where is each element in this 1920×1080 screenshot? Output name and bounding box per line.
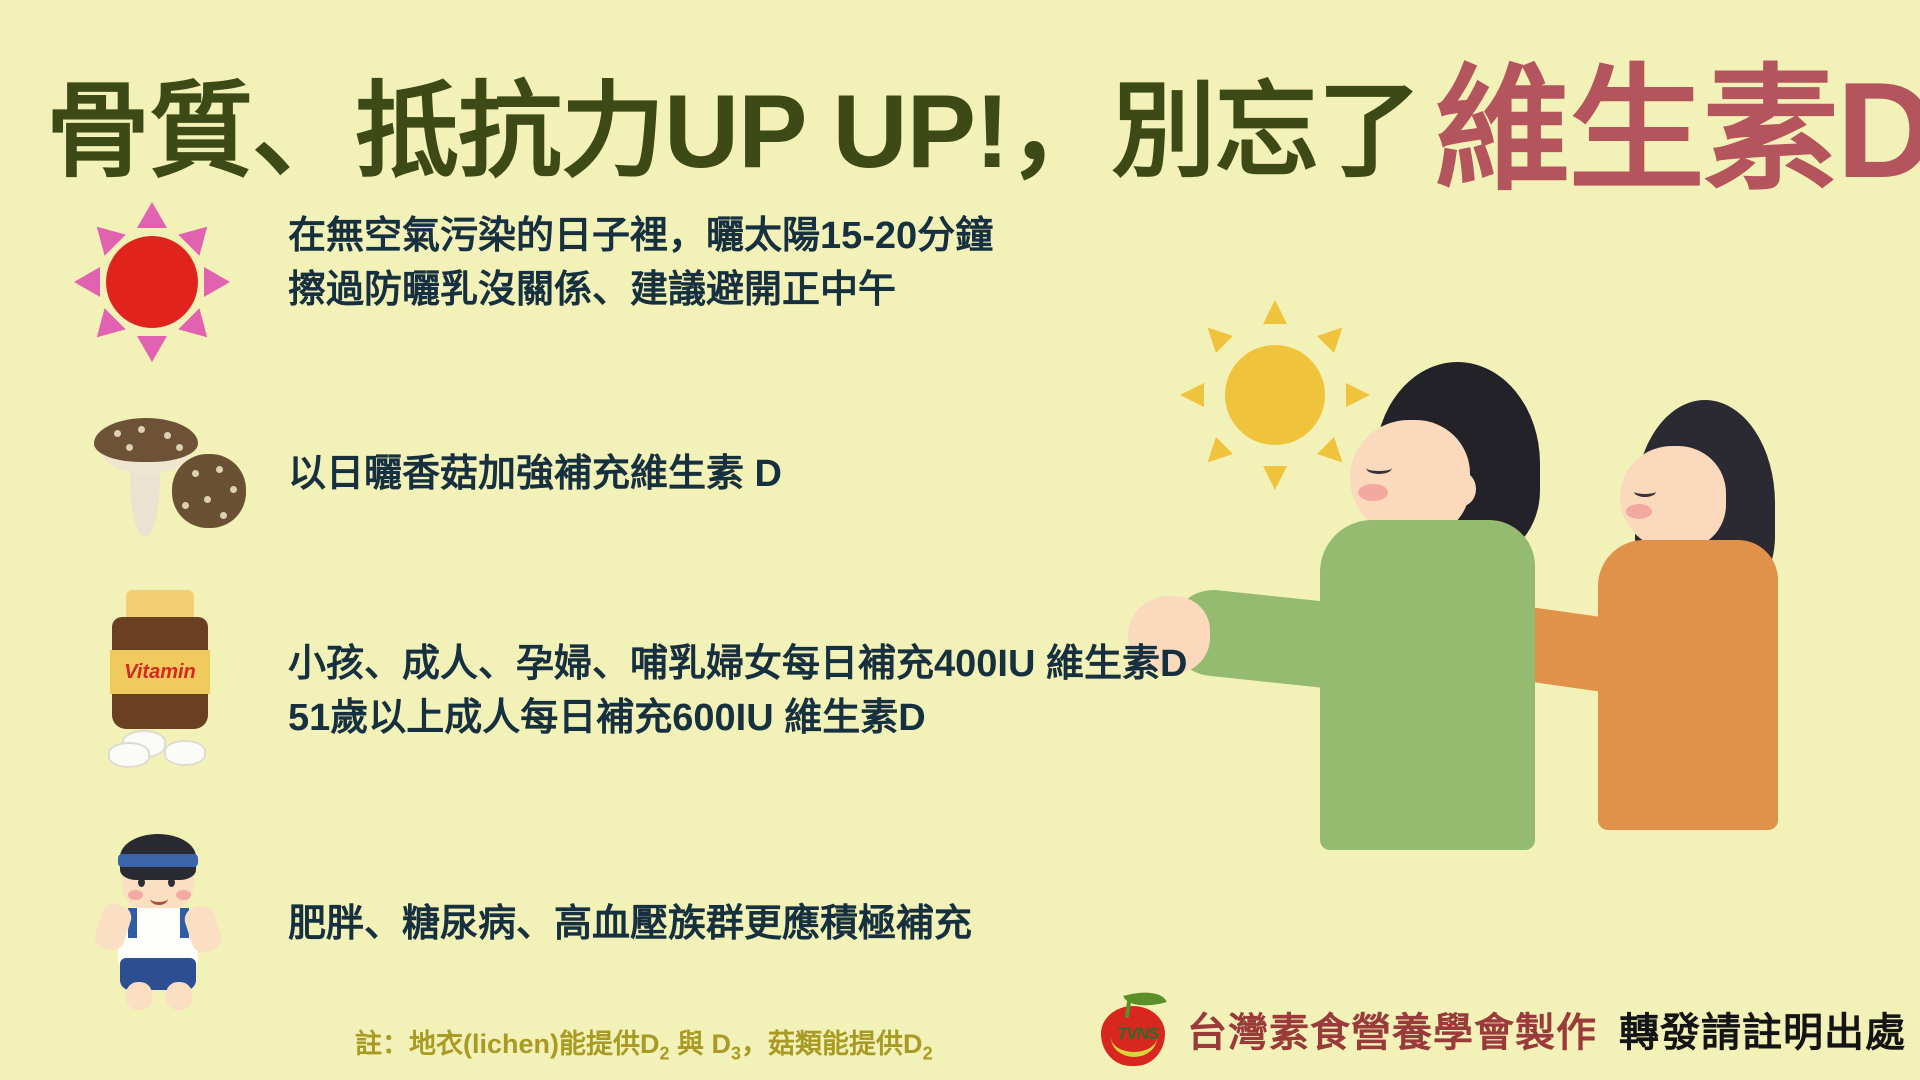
pill-icon bbox=[108, 742, 150, 768]
bullet-line: 在無空氣污染的日子裡，曬太陽15-20分鐘 bbox=[288, 210, 993, 264]
man-body bbox=[1320, 520, 1535, 850]
sun-ray bbox=[204, 267, 230, 297]
decorative-sun-ray bbox=[1346, 383, 1370, 407]
mushroom-spot bbox=[176, 444, 183, 451]
decorative-sun-ray bbox=[1317, 319, 1351, 353]
child-eye-icon bbox=[168, 878, 175, 887]
bullet-line: 以日曬香菇加強補充維生素 D bbox=[288, 448, 782, 502]
bullet-icon-container bbox=[60, 400, 260, 590]
bullet-line: 小孩、成人、孕婦、哺乳婦女每日補充400IU 維生素D bbox=[288, 638, 1187, 692]
child-cheek bbox=[128, 890, 143, 900]
bullet-row-mushroom: 以日曬香菇加強補充維生素 D bbox=[60, 400, 782, 590]
bullet-icon-container: Vitamin bbox=[60, 590, 260, 780]
mushroom-spot bbox=[220, 512, 227, 519]
footnote-sub-1: 2 bbox=[660, 1043, 670, 1063]
mushroom-cap bbox=[94, 418, 198, 462]
bottle-label: Vitamin bbox=[110, 650, 210, 694]
man-cheek bbox=[1358, 484, 1388, 501]
child-headband bbox=[118, 854, 198, 867]
bottle-label-text: Vitamin bbox=[124, 661, 196, 684]
footnote-sub-2: 3 bbox=[731, 1043, 741, 1063]
mushroom-spot bbox=[216, 466, 223, 473]
bullet-line: 肥胖、糖尿病、高血壓族群更應積極補充 bbox=[288, 898, 972, 952]
bullet-icon-container bbox=[60, 196, 260, 386]
shiitake-mushroom-icon bbox=[68, 410, 248, 550]
child-leg bbox=[166, 982, 192, 1010]
bullet-text-mushroom: 以日曬香菇加強補充維生素 D bbox=[288, 448, 782, 502]
child-eye-icon bbox=[138, 878, 145, 887]
man-ear bbox=[1448, 472, 1476, 506]
footnote-sub-3: 2 bbox=[923, 1043, 933, 1063]
mushroom-spot bbox=[138, 426, 145, 433]
decorative-sun-core bbox=[1225, 345, 1325, 445]
woman-face bbox=[1620, 446, 1726, 550]
bottle-cap bbox=[126, 590, 194, 620]
infographic-poster: 骨質、抵抗力UP UP!，別忘了 維生素D bbox=[0, 0, 1920, 1080]
bullet-row-supplement: Vitamin 小孩、成人、孕婦、哺乳婦女每日補充400IU 維生素D 51歲以… bbox=[60, 590, 1187, 780]
logo-text: TVNS bbox=[1117, 1024, 1158, 1044]
mushroom-spot bbox=[204, 496, 211, 503]
decorative-sun-ray bbox=[1263, 300, 1287, 324]
sun-icon bbox=[72, 202, 232, 362]
title-main-text: 骨質、抵抗力UP UP!，別忘了 bbox=[46, 80, 1421, 184]
mushroom-spot bbox=[126, 444, 133, 451]
sun-ray bbox=[137, 202, 167, 228]
mushroom-spot bbox=[164, 432, 171, 439]
woman-eye-icon bbox=[1634, 486, 1656, 497]
bullet-line: 擦過防曬乳沒關係、建議避開正中午 bbox=[288, 264, 993, 318]
mushroom-spot bbox=[114, 430, 121, 437]
child-icon bbox=[84, 830, 234, 1010]
footnote-mid: 與 D bbox=[670, 1029, 732, 1059]
poster-title: 骨質、抵抗力UP UP!，別忘了 維生素D bbox=[46, 24, 1920, 184]
child-leg bbox=[126, 982, 152, 1010]
decorative-sun-ray bbox=[1199, 319, 1233, 353]
decorative-sun-ray bbox=[1180, 383, 1204, 407]
footnote: 註：地衣(lichen)能提供D2 與 D3，菇類能提供D2 bbox=[355, 1022, 933, 1064]
woman-cheek bbox=[1626, 504, 1652, 519]
decorative-sun-ray bbox=[1317, 437, 1351, 471]
child-mouth-icon bbox=[150, 892, 168, 905]
sun-ray bbox=[74, 267, 100, 297]
share-notice: 轉發請註明出處 bbox=[1619, 1000, 1906, 1058]
sun-core bbox=[106, 236, 198, 328]
bullet-line: 51歲以上成人每日補充600IU 維生素D bbox=[288, 692, 1187, 746]
mushroom-spot bbox=[192, 470, 199, 477]
mushroom-spot bbox=[182, 502, 189, 509]
decorative-sun-ray bbox=[1199, 437, 1233, 471]
vitamin-bottle-icon: Vitamin bbox=[90, 590, 230, 765]
people-illustration bbox=[1420, 400, 1920, 960]
bullet-row-sun: 在無空氣污染的日子裡，曬太陽15-20分鐘 擦過防曬乳沒關係、建議避開正中午 bbox=[60, 196, 993, 386]
credit-block: TVNS 台灣素食營養學會製作 轉發請註明出處 bbox=[1095, 988, 1906, 1070]
bullet-text-sun: 在無空氣污染的日子裡，曬太陽15-20分鐘 擦過防曬乳沒關係、建議避開正中午 bbox=[288, 210, 993, 318]
organization-credit: 台灣素食營養學會製作 bbox=[1187, 1000, 1597, 1058]
child-cheek bbox=[176, 890, 191, 900]
footnote-prefix: 註：地衣(lichen)能提供D bbox=[355, 1029, 660, 1059]
bullet-icon-container bbox=[60, 830, 260, 1020]
mushroom-spot bbox=[230, 486, 237, 493]
tvns-logo-icon: TVNS bbox=[1095, 988, 1173, 1070]
man-eye-icon bbox=[1366, 462, 1392, 474]
bullet-text-risk-groups: 肥胖、糖尿病、高血壓族群更應積極補充 bbox=[288, 898, 972, 952]
bullet-row-risk-groups: 肥胖、糖尿病、高血壓族群更應積極補充 bbox=[60, 830, 972, 1020]
sun-ray bbox=[137, 336, 167, 362]
title-accent-text: 維生素D bbox=[1435, 62, 1920, 198]
footnote-suffix: ，菇類能提供D bbox=[741, 1029, 923, 1059]
decorative-sun-ray bbox=[1263, 466, 1287, 490]
pill-icon bbox=[164, 740, 206, 766]
decorative-sun-icon bbox=[1180, 300, 1370, 490]
bullet-text-supplement: 小孩、成人、孕婦、哺乳婦女每日補充400IU 維生素D 51歲以上成人每日補充6… bbox=[288, 638, 1187, 746]
